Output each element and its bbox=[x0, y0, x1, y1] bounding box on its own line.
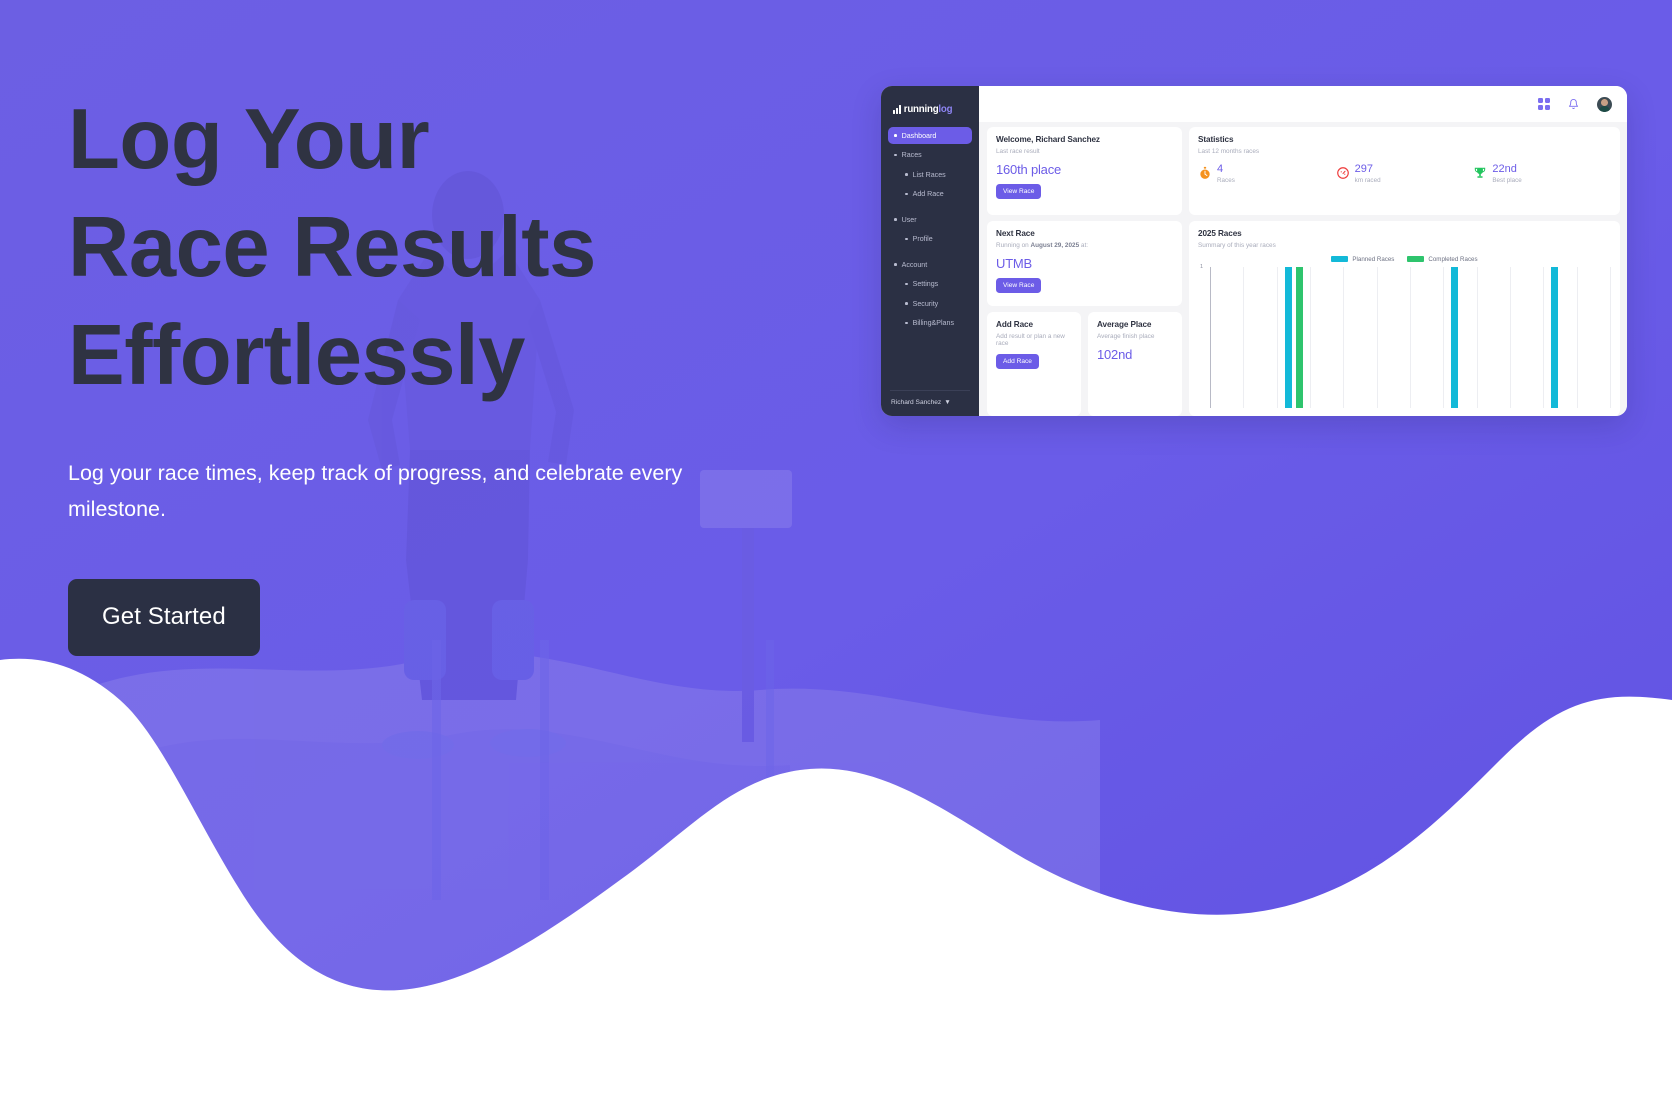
bullet-icon bbox=[894, 218, 897, 221]
chart-bar[interactable] bbox=[1551, 267, 1558, 409]
races-chart-card: 2025 Races Summary of this year races Pl… bbox=[1189, 221, 1620, 416]
sidebar-item-account[interactable]: Account bbox=[888, 256, 972, 273]
next-race-date: August 29, 2025 bbox=[1030, 242, 1079, 249]
next-race-card: Next Race Running on August 29, 2025 at:… bbox=[987, 221, 1182, 306]
dashboard-main: Welcome, Richard Sanchez Last race resul… bbox=[979, 86, 1627, 416]
sidebar-item-user[interactable]: User bbox=[888, 211, 972, 228]
legend-label: Planned Races bbox=[1352, 256, 1394, 263]
add-race-card-title: Add Race bbox=[996, 320, 1072, 329]
sidebar-item-add-race[interactable]: Add Race bbox=[888, 186, 972, 203]
chart-column bbox=[1544, 267, 1577, 409]
dashboard-preview: runninglog Dashboard Races List Races bbox=[881, 86, 1627, 416]
legend-label: Completed Races bbox=[1428, 256, 1477, 263]
sidebar-item-label: Races bbox=[902, 151, 922, 159]
hero-subtitle: Log your race times, keep track of progr… bbox=[68, 456, 748, 527]
get-started-button[interactable]: Get Started bbox=[68, 579, 260, 656]
next-race-card-title: Next Race bbox=[996, 229, 1173, 238]
chart-column bbox=[1444, 267, 1477, 409]
add-race-button[interactable]: Add Race bbox=[996, 354, 1039, 369]
bullet-icon bbox=[905, 238, 908, 241]
average-place-card-value: 102nd bbox=[1097, 347, 1173, 362]
bullet-icon bbox=[905, 322, 908, 325]
chart-column bbox=[1311, 267, 1344, 409]
chart-column bbox=[1578, 267, 1611, 409]
chart-plot-area: 1 bbox=[1198, 266, 1611, 409]
app-logo[interactable]: runninglog bbox=[881, 86, 979, 118]
title-line-1: Log Your bbox=[68, 86, 828, 194]
welcome-card: Welcome, Richard Sanchez Last race resul… bbox=[987, 127, 1182, 215]
bullet-icon bbox=[905, 283, 908, 286]
welcome-card-subtitle: Last race result bbox=[996, 148, 1173, 155]
small-cards-row: Add Race Add result or plan a new race A… bbox=[987, 312, 1182, 416]
sidebar-item-label: List Races bbox=[913, 171, 946, 179]
chart-column bbox=[1278, 267, 1311, 409]
view-race-button[interactable]: View Race bbox=[996, 184, 1041, 199]
add-race-card: Add Race Add result or plan a new race A… bbox=[987, 312, 1081, 416]
sidebar-item-billing-plans[interactable]: Billing&Plans bbox=[888, 315, 972, 332]
sidebar-item-settings[interactable]: Settings bbox=[888, 276, 972, 293]
logo-accent: log bbox=[938, 104, 952, 115]
stat-label: km raced bbox=[1355, 177, 1381, 184]
sidebar-item-security[interactable]: Security bbox=[888, 295, 972, 312]
statistics-card-title: Statistics bbox=[1198, 135, 1611, 144]
sidebar-item-races[interactable]: Races bbox=[888, 147, 972, 164]
chart-column bbox=[1244, 267, 1277, 409]
view-next-race-button[interactable]: View Race bbox=[996, 278, 1041, 293]
chart-column bbox=[1511, 267, 1544, 409]
sidebar-item-label: Dashboard bbox=[902, 132, 937, 140]
add-race-card-subtitle: Add result or plan a new race bbox=[996, 333, 1072, 347]
bullet-icon bbox=[894, 134, 897, 137]
grid-apps-icon[interactable] bbox=[1538, 98, 1550, 110]
welcome-card-value: 160th place bbox=[996, 162, 1173, 177]
chart-legend: Planned Races Completed Races bbox=[1198, 256, 1611, 263]
sidebar-item-label: Add Race bbox=[913, 190, 944, 198]
title-line-2: Race Results bbox=[68, 194, 828, 302]
stat-label: Best place bbox=[1492, 177, 1521, 184]
chevron-down-icon: ▼ bbox=[944, 399, 951, 406]
stat-value: 22nd bbox=[1492, 164, 1521, 176]
sidebar-user-menu[interactable]: Richard Sanchez ▼ bbox=[890, 390, 970, 416]
notification-bell-icon[interactable] bbox=[1568, 98, 1579, 110]
sidebar-user-name: Richard Sanchez bbox=[891, 399, 941, 406]
next-race-card-subtitle: Running on August 29, 2025 at: bbox=[996, 242, 1173, 249]
stat-value: 297 bbox=[1355, 164, 1381, 176]
page-title: Log Your Race Results Effortlessly bbox=[68, 86, 828, 410]
statistics-row: 4 Races bbox=[1198, 164, 1611, 185]
average-place-card-title: Average Place bbox=[1097, 320, 1173, 329]
sidebar-item-label: Security bbox=[913, 300, 939, 308]
user-avatar[interactable] bbox=[1597, 97, 1612, 112]
stat-best-place: 22nd Best place bbox=[1473, 164, 1611, 185]
chart-column bbox=[1344, 267, 1377, 409]
chart-column bbox=[1211, 267, 1244, 409]
legend-item-completed[interactable]: Completed Races bbox=[1407, 256, 1477, 263]
sidebar-item-label: Settings bbox=[913, 280, 939, 288]
dashboard-topbar bbox=[979, 86, 1627, 122]
bullet-icon bbox=[905, 193, 908, 196]
legend-item-planned[interactable]: Planned Races bbox=[1331, 256, 1394, 263]
hero-copy: Log Your Race Results Effortlessly Log y… bbox=[68, 86, 828, 656]
chart-column bbox=[1378, 267, 1411, 409]
title-line-3: Effortlessly bbox=[68, 302, 828, 410]
dashboard-cards: Welcome, Richard Sanchez Last race resul… bbox=[979, 122, 1627, 416]
chart-column bbox=[1478, 267, 1511, 409]
y-axis-tick-label: 1 bbox=[1200, 264, 1203, 270]
chart-gridlines bbox=[1210, 267, 1611, 409]
sidebar-item-label: User bbox=[902, 216, 917, 224]
races-chart-subtitle: Summary of this year races bbox=[1198, 242, 1611, 249]
page-root: Log Your Race Results Effortlessly Log y… bbox=[0, 0, 1672, 1095]
chart-column bbox=[1411, 267, 1444, 409]
dashboard-left-column: Welcome, Richard Sanchez Last race resul… bbox=[987, 127, 1182, 416]
statistics-card-subtitle: Last 12 months races bbox=[1198, 148, 1611, 155]
bullet-icon bbox=[905, 173, 908, 176]
bar-chart-icon bbox=[893, 105, 901, 114]
statistics-card: Statistics Last 12 months races bbox=[1189, 127, 1620, 215]
sidebar-item-label: Billing&Plans bbox=[913, 319, 954, 327]
average-place-card: Average Place Average finish place 102nd bbox=[1088, 312, 1182, 416]
trophy-icon bbox=[1473, 166, 1487, 180]
average-place-card-subtitle: Average finish place bbox=[1097, 333, 1173, 340]
dashboard-right-column: Statistics Last 12 months races bbox=[1189, 127, 1620, 416]
sidebar-nav: Dashboard Races List Races Add Race bbox=[881, 127, 979, 390]
sidebar-item-label: Profile bbox=[913, 235, 933, 243]
stopwatch-icon bbox=[1198, 166, 1212, 180]
races-chart-title: 2025 Races bbox=[1198, 229, 1611, 238]
bullet-icon bbox=[905, 302, 908, 305]
sidebar-item-label: Account bbox=[902, 261, 928, 269]
legend-swatch bbox=[1407, 256, 1424, 262]
chart-bar[interactable] bbox=[1285, 267, 1292, 409]
stat-races: 4 Races bbox=[1198, 164, 1336, 185]
stat-label: Races bbox=[1217, 177, 1235, 184]
dashboard-sidebar: runninglog Dashboard Races List Races bbox=[881, 86, 979, 416]
chart-bar[interactable] bbox=[1451, 267, 1458, 409]
legend-swatch bbox=[1331, 256, 1348, 262]
next-race-card-value: UTMB bbox=[996, 256, 1173, 271]
stat-value: 4 bbox=[1217, 164, 1235, 176]
speedometer-icon bbox=[1336, 166, 1350, 180]
sidebar-item-list-races[interactable]: List Races bbox=[888, 166, 972, 183]
bullet-icon bbox=[894, 263, 897, 266]
chart-bar[interactable] bbox=[1296, 267, 1303, 409]
welcome-card-title: Welcome, Richard Sanchez bbox=[996, 135, 1173, 144]
bullet-icon bbox=[894, 154, 897, 157]
stat-km-raced: 297 km raced bbox=[1336, 164, 1474, 185]
sidebar-item-profile[interactable]: Profile bbox=[888, 231, 972, 248]
logo-primary: running bbox=[904, 104, 939, 115]
sidebar-item-dashboard[interactable]: Dashboard bbox=[888, 127, 972, 144]
